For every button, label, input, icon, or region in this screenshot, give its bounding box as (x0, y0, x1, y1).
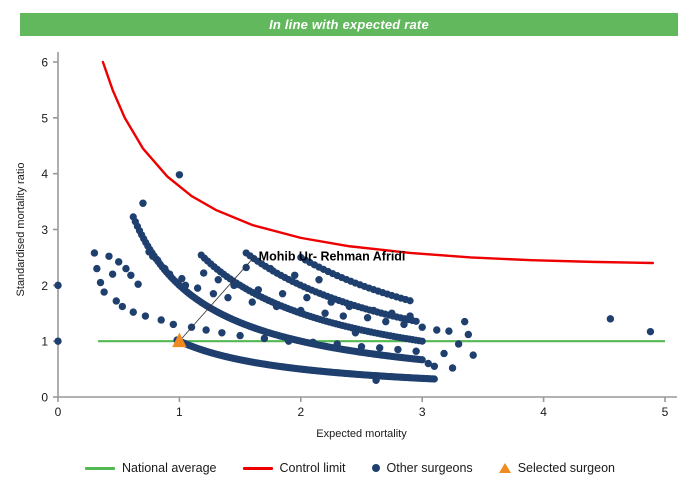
y-axis-tick-label: 6 (41, 56, 48, 70)
y-axis-tick-label: 3 (41, 223, 48, 237)
scatter-point (255, 286, 262, 293)
scatter-point (139, 200, 146, 207)
scatter-point (321, 310, 328, 317)
scatter-point (327, 298, 334, 305)
scatter-point (113, 297, 120, 304)
y-axis-tick-label: 0 (41, 391, 48, 405)
scatter-point (170, 321, 177, 328)
scatter-point (440, 350, 447, 357)
scatter-point (100, 288, 107, 295)
scatter-point (182, 282, 189, 289)
scatter-point (433, 326, 440, 333)
legend-item-label: Control limit (280, 461, 346, 475)
scatter-point (273, 303, 280, 310)
scatter-point (358, 343, 365, 350)
x-axis-tick-label: 3 (419, 405, 426, 419)
legend-dot-swatch (372, 464, 380, 472)
scatter-point (154, 257, 161, 264)
x-axis-tick-label: 5 (662, 405, 669, 419)
scatter-point (406, 297, 413, 304)
scatter-point (291, 272, 298, 279)
scatter-point (285, 337, 292, 344)
scatter-point (465, 331, 472, 338)
scatter-point (194, 284, 201, 291)
legend-line-swatch (243, 467, 273, 470)
chart-canvas: 0123456012345Expected mortalityStandardi… (0, 0, 700, 500)
legend-triangle-swatch (499, 463, 511, 473)
scatter-point (340, 312, 347, 319)
y-axis-title: Standardised mortality ratio (15, 163, 27, 297)
x-axis-tick-label: 2 (297, 405, 304, 419)
legend-item-selected-surgeon[interactable]: Selected surgeon (499, 461, 615, 475)
scatter-point (178, 275, 185, 282)
scatter-point (218, 329, 225, 336)
scatter-point (105, 253, 112, 260)
scatter-point (115, 258, 122, 265)
scatter-point (109, 270, 116, 277)
scatter-point (249, 298, 256, 305)
scatter-point (607, 315, 614, 322)
scatter-point (469, 351, 476, 358)
scatter-point (370, 307, 377, 314)
scatter-point (119, 303, 126, 310)
scatter-point (364, 314, 371, 321)
scatter-point (142, 312, 149, 319)
scatter-point (215, 276, 222, 283)
x-axis-title: Expected mortality (316, 428, 407, 440)
scatter-point (413, 318, 420, 325)
scatter-point (455, 340, 462, 347)
scatter-point (134, 281, 141, 288)
scatter-point (224, 294, 231, 301)
scatter-point (161, 265, 168, 272)
scatter-point (97, 279, 104, 286)
scatter-point (54, 337, 61, 344)
legend-item-label: National average (122, 461, 217, 475)
scatter-point (176, 171, 183, 178)
scatter-point (352, 329, 359, 336)
scatter-point (412, 348, 419, 355)
scatter-point (236, 332, 243, 339)
x-axis-tick-label: 4 (540, 405, 547, 419)
scatter-point (461, 318, 468, 325)
scatter-point (91, 249, 98, 256)
scatter-point (346, 303, 353, 310)
scatter-point (303, 294, 310, 301)
scatter-point (647, 328, 654, 335)
scatter-point (394, 346, 401, 353)
scatter-point (388, 310, 395, 317)
scatter-point (93, 265, 100, 272)
annotation-label: Mohib Ur- Rehman Afridi (259, 249, 406, 263)
chart-legend: National averageControl limitOther surge… (0, 455, 700, 481)
scatter-point (279, 290, 286, 297)
scatter-point (431, 375, 438, 382)
funnel-plot: 0123456012345Expected mortalityStandardi… (0, 0, 700, 500)
x-axis-tick-label: 0 (55, 405, 62, 419)
scatter-point (267, 265, 274, 272)
scatter-point (297, 307, 304, 314)
scatter-point (376, 344, 383, 351)
scatter-point (122, 265, 129, 272)
scatter-point (166, 270, 173, 277)
scatter-point (309, 339, 316, 346)
scatter-point (400, 321, 407, 328)
y-axis-tick-label: 1 (41, 335, 48, 349)
scatter-point (445, 327, 452, 334)
legend-item-control-limit[interactable]: Control limit (243, 461, 346, 475)
scatter-point (419, 338, 426, 345)
scatter-point (315, 276, 322, 283)
scatter-point (202, 326, 209, 333)
scatter-point (127, 272, 134, 279)
scatter-point (130, 308, 137, 315)
scatter-point (372, 377, 379, 384)
scatter-point (406, 312, 413, 319)
y-axis-tick-label: 2 (41, 279, 48, 293)
legend-item-label: Other surgeons (387, 461, 473, 475)
legend-line-swatch (85, 467, 115, 470)
scatter-point (54, 282, 61, 289)
x-axis-tick-label: 1 (176, 405, 183, 419)
scatter-point (419, 356, 426, 363)
legend-item-label: Selected surgeon (518, 461, 615, 475)
y-axis-tick-label: 5 (41, 111, 48, 125)
scatter-point (382, 318, 389, 325)
scatter-point (431, 363, 438, 370)
scatter-point (261, 335, 268, 342)
scatter-point (210, 290, 217, 297)
y-axis-tick-label: 4 (41, 167, 48, 181)
scatter-point (200, 269, 207, 276)
other-surgeons-points (54, 171, 654, 384)
control-limit-curve (103, 62, 653, 263)
scatter-point (449, 364, 456, 371)
scatter-point (419, 324, 426, 331)
scatter-point (157, 316, 164, 323)
legend-item-national-average[interactable]: National average (85, 461, 217, 475)
legend-item-other-surgeons[interactable]: Other surgeons (372, 461, 473, 475)
scatter-point (242, 264, 249, 271)
scatter-point (334, 340, 341, 347)
